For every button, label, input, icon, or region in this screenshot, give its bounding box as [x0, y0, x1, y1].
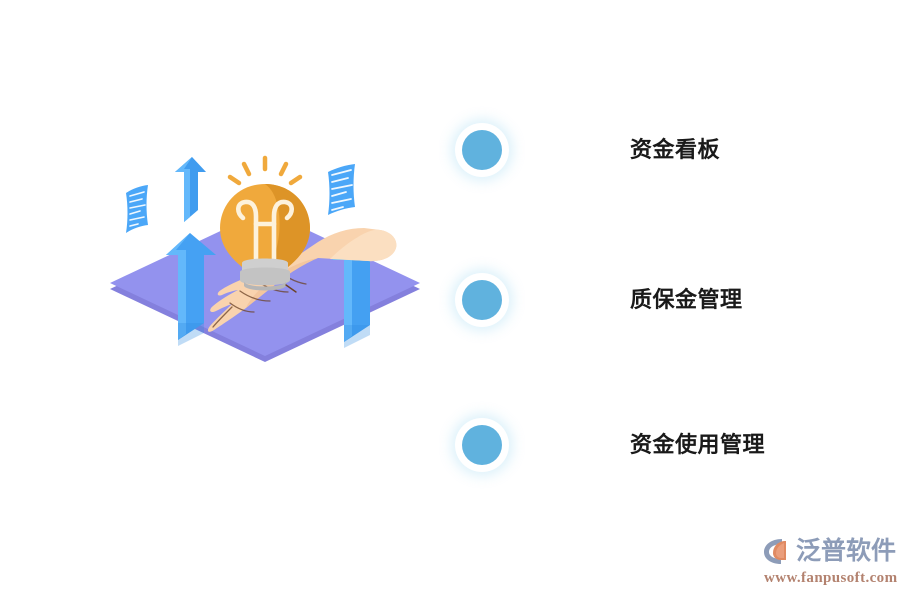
- feature-item-fund-usage-management[interactable]: 资金使用管理: [440, 425, 840, 465]
- bulb-sparkle-icon: [230, 158, 300, 183]
- watermark-brand-row: 泛普软件: [762, 534, 896, 568]
- document-sheet-right: [328, 164, 355, 215]
- feature-list: 资金看板 质保金管理 资金使用管理: [440, 100, 840, 500]
- document-sheet-left: [126, 185, 148, 233]
- feature-item-fund-dashboard[interactable]: 资金看板: [440, 130, 840, 170]
- feature-label: 资金使用管理: [630, 434, 765, 456]
- hand-holding-lightbulb-illustration: [80, 150, 450, 390]
- diagram-canvas: 资金看板 质保金管理 资金使用管理 泛普软件 www.fanpusoft.com: [0, 0, 900, 600]
- watermark-brand-text: 泛普软件: [796, 539, 896, 564]
- watermark-url-text: www.fanpusoft.com: [764, 570, 897, 587]
- arrow-up-back-left: [175, 157, 206, 222]
- illustration-svg: [80, 150, 450, 390]
- bullet-dot-icon: [462, 280, 502, 320]
- feature-label: 质保金管理: [630, 289, 743, 311]
- bullet-dot-icon: [462, 130, 502, 170]
- fanpu-logo-icon: [762, 536, 792, 566]
- feature-label: 资金看板: [630, 139, 720, 161]
- feature-item-warranty-deposit[interactable]: 质保金管理: [440, 280, 840, 320]
- bullet-dot-icon: [462, 425, 502, 465]
- watermark-logo: 泛普软件 www.fanpusoft.com: [762, 534, 894, 590]
